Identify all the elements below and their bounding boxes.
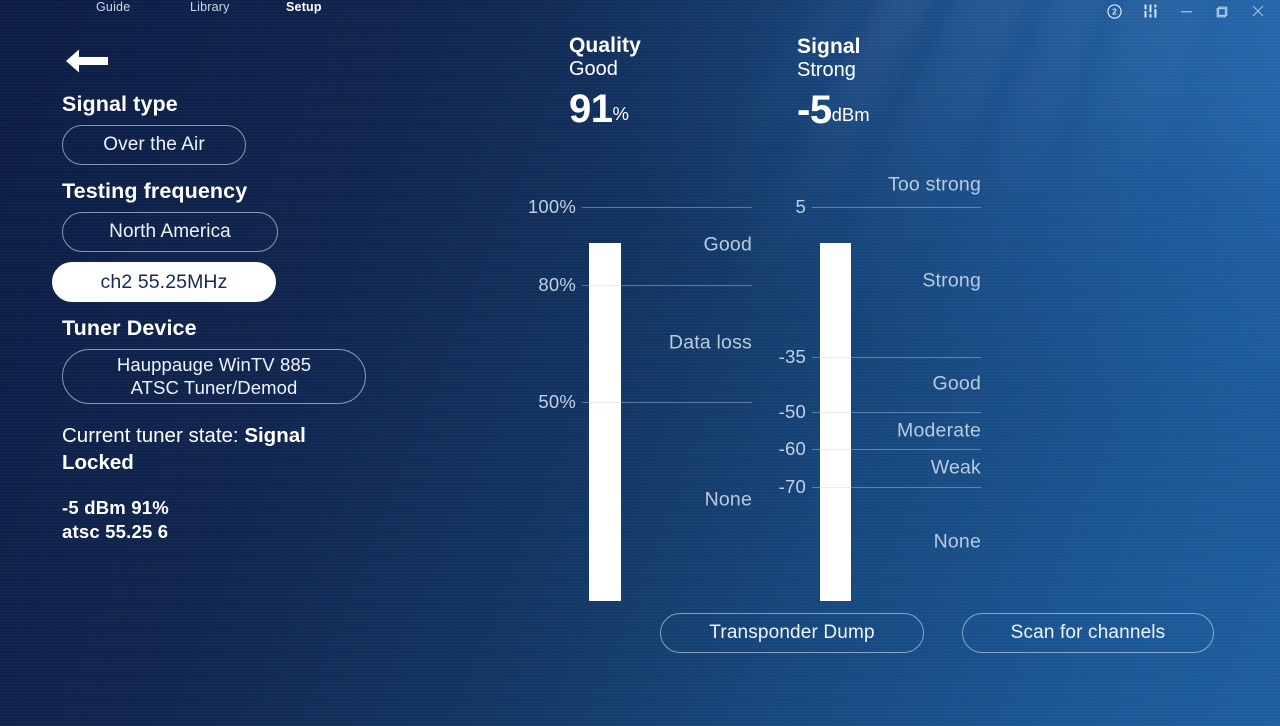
signal-tick-label-m70: -70 bbox=[736, 476, 806, 498]
quality-metric-header: Quality Good 91% bbox=[569, 35, 641, 129]
testing-frequency-label: Testing frequency bbox=[62, 179, 470, 204]
signal-zone-label-strong: Strong bbox=[812, 270, 981, 293]
signal-tick-label-m35: -35 bbox=[736, 346, 806, 368]
arrow-left-icon bbox=[62, 46, 114, 76]
back-button[interactable] bbox=[62, 44, 116, 78]
signal-tick-label-m50: -50 bbox=[736, 401, 806, 423]
signal-unit: dBm bbox=[832, 104, 870, 125]
quality-tick-label-50: 50% bbox=[506, 391, 576, 413]
quality-gauge bbox=[582, 207, 752, 601]
quality-tick-label-100: 100% bbox=[506, 196, 576, 218]
tuner-state-prefix: Current tuner state: bbox=[62, 424, 244, 447]
quality-title: Quality bbox=[569, 35, 641, 58]
tab-library[interactable]: Library bbox=[180, 0, 232, 18]
signal-zone-label-too-strong: Too strong bbox=[812, 174, 981, 197]
signal-zone-label-weak: Weak bbox=[812, 457, 981, 480]
tab-guide[interactable]: Guide bbox=[86, 0, 132, 18]
quality-tick-label-80: 80% bbox=[506, 274, 576, 296]
app-background: Guide Library Setup 2 bbox=[0, 0, 1280, 726]
signal-tick-label-m60: -60 bbox=[736, 438, 806, 460]
scan-for-channels-button[interactable]: Scan for channels bbox=[962, 613, 1214, 653]
readout-line-2: atsc 55.25 6 bbox=[62, 520, 470, 544]
quality-value: 91 bbox=[569, 87, 613, 131]
channel-select[interactable]: ch2 55.25MHz bbox=[52, 262, 276, 302]
tuner-device-select[interactable]: Hauppauge WinTV 885 ATSC Tuner/Demod bbox=[62, 349, 366, 404]
signal-metric-header: Signal Strong -5dBm bbox=[797, 36, 870, 130]
titlebar: Guide Library Setup 2 bbox=[0, 0, 1280, 22]
signal-type-select[interactable]: Over the Air bbox=[62, 125, 246, 165]
transponder-dump-label: Transponder Dump bbox=[709, 622, 874, 644]
setup-sidebar: Signal type Over the Air Testing frequen… bbox=[0, 22, 470, 543]
tuner-device-line1: Hauppauge WinTV 885 bbox=[117, 354, 311, 377]
transponder-dump-button[interactable]: Transponder Dump bbox=[660, 613, 924, 653]
quality-zone-label-none: None bbox=[582, 489, 752, 512]
signal-tick-label-5: 5 bbox=[736, 196, 806, 218]
signal-title: Signal bbox=[797, 36, 870, 59]
signal-type-label: Signal type bbox=[62, 92, 470, 117]
maximize-icon[interactable] bbox=[1204, 0, 1240, 22]
quality-unit: % bbox=[613, 103, 629, 124]
readout-line-1: -5 dBm 91% bbox=[62, 496, 470, 520]
notification-badge-icon[interactable]: 2 bbox=[1096, 0, 1132, 22]
quality-value-group: 91% bbox=[569, 89, 641, 129]
tab-setup[interactable]: Setup bbox=[276, 0, 330, 18]
quality-zone-label-data-loss: Data loss bbox=[582, 332, 752, 355]
tuner-device-line2: ATSC Tuner/Demod bbox=[131, 377, 298, 400]
signal-zone-label-moderate: Moderate bbox=[812, 420, 981, 443]
svg-text:2: 2 bbox=[1112, 6, 1117, 16]
signal-status: Strong bbox=[797, 59, 870, 83]
quality-bar bbox=[589, 243, 621, 601]
close-icon[interactable] bbox=[1240, 0, 1276, 22]
signal-value-group: -5dBm bbox=[797, 90, 870, 130]
region-select[interactable]: North America bbox=[62, 212, 278, 252]
tuner-state: Current tuner state: Signal Locked bbox=[62, 422, 362, 476]
quality-status: Good bbox=[569, 58, 641, 82]
signal-zone-label-good: Good bbox=[812, 373, 981, 396]
signal-type-value: Over the Air bbox=[103, 134, 205, 156]
region-value: North America bbox=[109, 221, 231, 243]
signal-zone-label-none: None bbox=[812, 531, 981, 554]
scan-for-channels-label: Scan for channels bbox=[1011, 622, 1166, 644]
signal-readout: -5 dBm 91% atsc 55.25 6 bbox=[62, 496, 470, 543]
minimize-icon[interactable] bbox=[1168, 0, 1204, 22]
tuner-device-label: Tuner Device bbox=[62, 316, 470, 341]
signal-value: -5 bbox=[797, 88, 832, 132]
channel-value: ch2 55.25MHz bbox=[101, 271, 228, 294]
quality-zone-label-good: Good bbox=[582, 234, 752, 257]
equalizer-icon[interactable] bbox=[1132, 0, 1168, 22]
window-controls: 2 bbox=[1096, 0, 1276, 22]
